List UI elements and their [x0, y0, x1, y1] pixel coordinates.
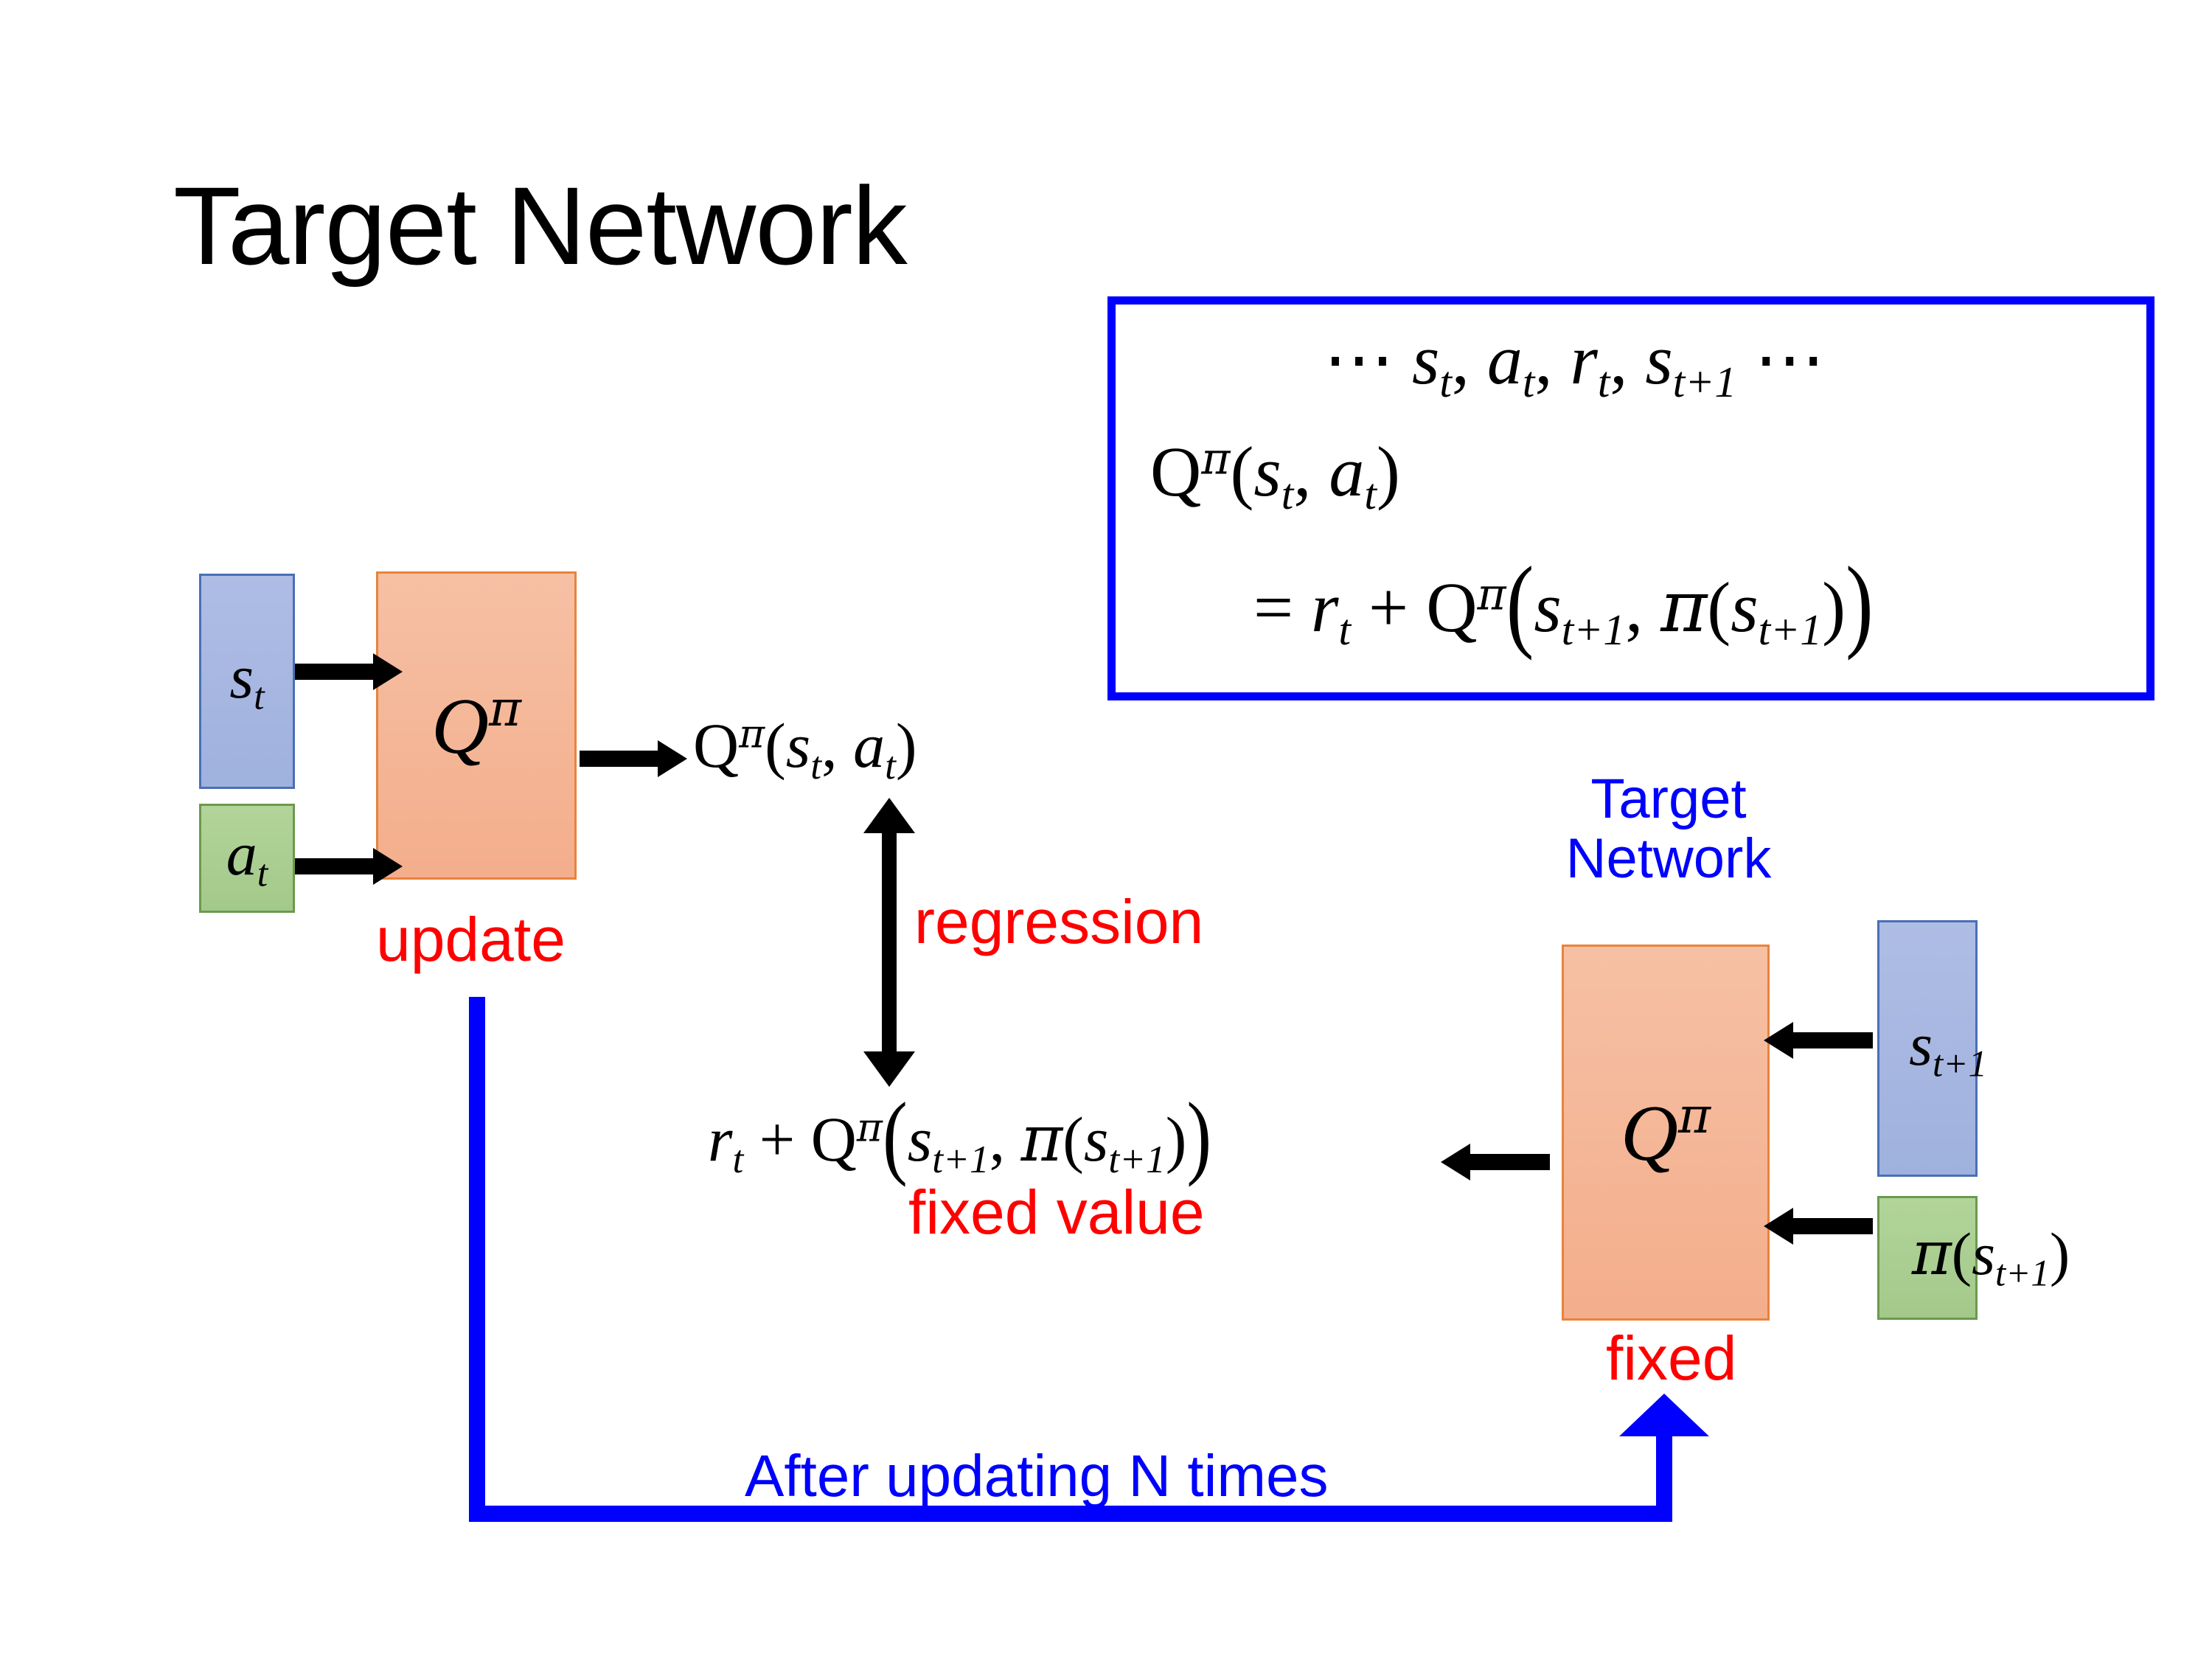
- next-state-input-box[interactable]: st+1: [1877, 920, 1978, 1177]
- eq3-equals: =: [1253, 568, 1293, 647]
- eq1-s-sub: t: [1439, 358, 1452, 406]
- target-network-heading: Target Network: [1562, 770, 1775, 888]
- tgt-open-paren: (: [883, 1089, 908, 1183]
- eq3-inner-open-paren: (: [1707, 568, 1731, 647]
- feedback-loop-label: After updating N times: [745, 1445, 1328, 1508]
- arrow-network-to-output: [580, 751, 659, 767]
- out-pi-sup: π: [739, 711, 765, 757]
- eq1-a-sub: t: [1523, 358, 1535, 406]
- eq2-q: Q: [1150, 432, 1201, 511]
- eq2-pi-sup: π: [1201, 434, 1230, 484]
- target-network-heading-line-1: Target: [1562, 770, 1775, 829]
- tgt-inner-close-paren: ): [1166, 1104, 1187, 1175]
- slide-canvas: Target Network ⋯ st, at, rt, st+1 ⋯ Qπ(s…: [0, 0, 2212, 1659]
- action-input-label: at: [226, 824, 268, 894]
- policy-action-input-label: π(st+1): [1912, 1224, 2070, 1292]
- eq3-r: r: [1311, 568, 1338, 647]
- equation-line-2: Qπ(st, at): [1150, 437, 1400, 516]
- out-q: Q: [693, 710, 739, 781]
- feedback-loop-vertical-segment: [469, 997, 485, 1522]
- tgt-close-paren: ): [1186, 1089, 1211, 1183]
- eq3-q: Q: [1426, 568, 1477, 647]
- eq3-s-next-sub: t+1: [1562, 605, 1625, 654]
- tgt-comma: ,: [990, 1104, 1006, 1175]
- out-a: a: [853, 710, 885, 781]
- online-q-output-expression: Qπ(st, at): [693, 714, 917, 785]
- eq1-comma-3: ,: [1610, 320, 1627, 399]
- tgt-inner-s: s: [1084, 1104, 1108, 1175]
- arrow-policy-action-to-target-network: [1792, 1218, 1873, 1234]
- arrow-state-to-network: [295, 664, 375, 680]
- next-state-input-label: st+1: [1909, 1015, 1987, 1082]
- tgt-pi: π: [1021, 1102, 1063, 1176]
- target-q-network-label: Qπ: [1621, 1091, 1711, 1174]
- eq2-a-sub: t: [1364, 470, 1377, 518]
- fixed-value-label: fixed value: [908, 1181, 1205, 1243]
- regression-label: regression: [914, 891, 1203, 953]
- regression-double-arrow: [882, 832, 897, 1053]
- eq3-s-next: s: [1534, 568, 1561, 647]
- page-title: Target Network: [173, 168, 907, 285]
- out-close-paren: ): [896, 710, 917, 781]
- tgt-inner-s-sub: t+1: [1108, 1137, 1165, 1181]
- tgt-pi-sup: π: [857, 1105, 883, 1150]
- state-input-label: st: [229, 647, 264, 717]
- eq2-s: s: [1253, 432, 1281, 511]
- out-open-paren: (: [765, 710, 786, 781]
- online-q-network-label: Qπ: [431, 684, 521, 767]
- eq3-plus: +: [1368, 568, 1408, 647]
- tgt-r: r: [708, 1104, 732, 1175]
- tgt-inner-open-paren: (: [1062, 1104, 1084, 1175]
- out-a-sub: t: [885, 743, 896, 787]
- eq3-pi: π: [1660, 566, 1707, 648]
- equation-line-1: ⋯ st, at, rt, st+1 ⋯: [1324, 324, 1825, 404]
- eq3-pi-sup: π: [1478, 569, 1506, 620]
- target-network-heading-line-2: Network: [1562, 829, 1775, 889]
- arrow-action-to-network: [295, 858, 375, 874]
- eq2-a: a: [1329, 432, 1364, 511]
- eq2-close-paren: ): [1377, 432, 1400, 511]
- eq2-comma: ,: [1293, 432, 1311, 511]
- eq3-comma: ,: [1625, 568, 1643, 647]
- ellipsis-left-glyph: ⋯: [1324, 320, 1394, 399]
- eq3-close-paren: ): [1846, 552, 1874, 656]
- update-annotation-label: update: [376, 908, 566, 970]
- out-s-sub: t: [810, 743, 821, 787]
- tgt-r-sub: t: [732, 1137, 743, 1181]
- feedback-loop-riser-segment: [1656, 1433, 1672, 1522]
- tgt-s-next-sub: t+1: [932, 1137, 989, 1181]
- eq1-comma-2: ,: [1534, 320, 1552, 399]
- eq1-s-next: s: [1645, 320, 1672, 399]
- eq1-r-sub: t: [1598, 358, 1610, 406]
- eq3-inner-s-sub: t+1: [1759, 605, 1822, 654]
- eq3-open-paren: (: [1506, 552, 1534, 656]
- eq2-s-sub: t: [1281, 470, 1294, 518]
- arrow-next-state-to-target-network: [1792, 1032, 1873, 1048]
- out-comma: ,: [821, 710, 838, 781]
- target-q-network-box[interactable]: Qπ: [1562, 945, 1770, 1321]
- fixed-annotation-label: fixed: [1606, 1327, 1736, 1389]
- eq3-r-sub: t: [1339, 605, 1352, 654]
- eq1-comma-1: ,: [1452, 320, 1470, 399]
- equation-line-3: = rt + Qπ(st+1, π(st+1)): [1253, 562, 1874, 652]
- action-input-box[interactable]: at: [199, 804, 295, 913]
- online-q-network-box[interactable]: Qπ: [376, 571, 577, 880]
- eq1-s-next-sub: t+1: [1673, 358, 1736, 406]
- eq2-open-paren: (: [1230, 432, 1253, 511]
- ellipsis-right-glyph: ⋯: [1754, 320, 1825, 399]
- fixed-target-expression: rt + Qπ(st+1, π(st+1)): [708, 1099, 1211, 1179]
- eq1-s: s: [1412, 320, 1439, 399]
- eq3-inner-close-paren: ): [1822, 568, 1846, 647]
- policy-action-input-box[interactable]: π(st+1): [1877, 1196, 1978, 1320]
- tgt-s-next: s: [908, 1104, 932, 1175]
- eq3-inner-s: s: [1731, 568, 1758, 647]
- eq1-a: a: [1487, 320, 1523, 399]
- tgt-q: Q: [811, 1104, 857, 1175]
- arrow-target-network-to-value: [1469, 1154, 1550, 1170]
- out-s: s: [786, 710, 810, 781]
- feedback-loop-arrowhead-icon: [1619, 1394, 1709, 1436]
- state-input-box[interactable]: st: [199, 574, 295, 789]
- tgt-plus: +: [759, 1104, 796, 1175]
- eq1-r: r: [1570, 320, 1597, 399]
